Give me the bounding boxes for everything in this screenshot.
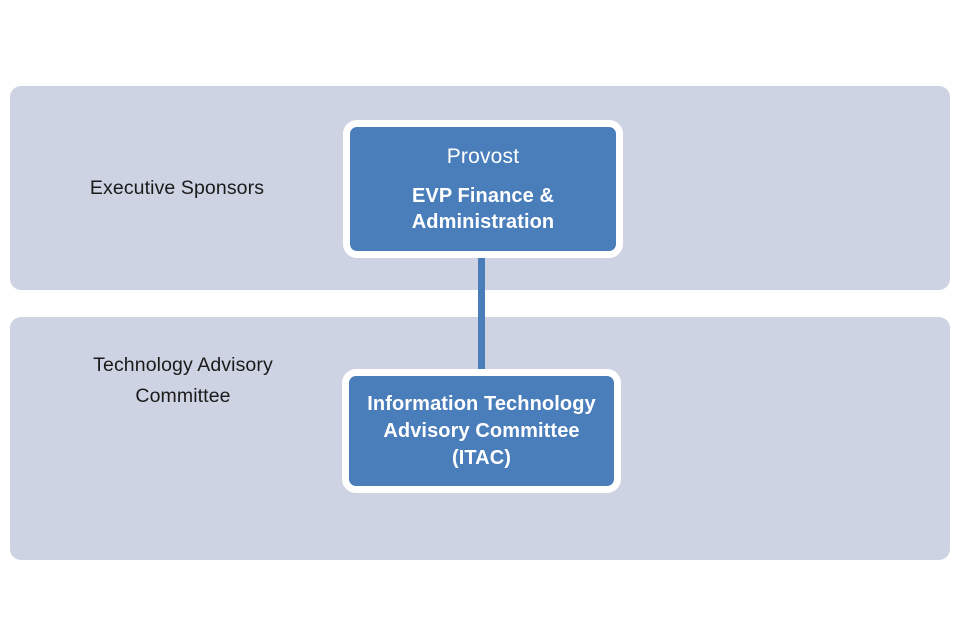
node-provost-subtitle: EVP Finance & Administration — [412, 183, 555, 235]
band-label-executive-sponsors: Executive Sponsors — [36, 173, 318, 204]
node-provost-title: Provost — [447, 144, 520, 170]
node-itac[interactable]: Information Technology Advisory Committe… — [342, 369, 621, 493]
org-chart-canvas: Executive Sponsors Technology Advisory C… — [0, 0, 960, 640]
node-itac-label: Information Technology Advisory Committe… — [367, 391, 596, 472]
band-label-technology-advisory-committee: Technology Advisory Committee — [42, 350, 324, 412]
node-provost[interactable]: Provost EVP Finance & Administration — [343, 120, 623, 258]
